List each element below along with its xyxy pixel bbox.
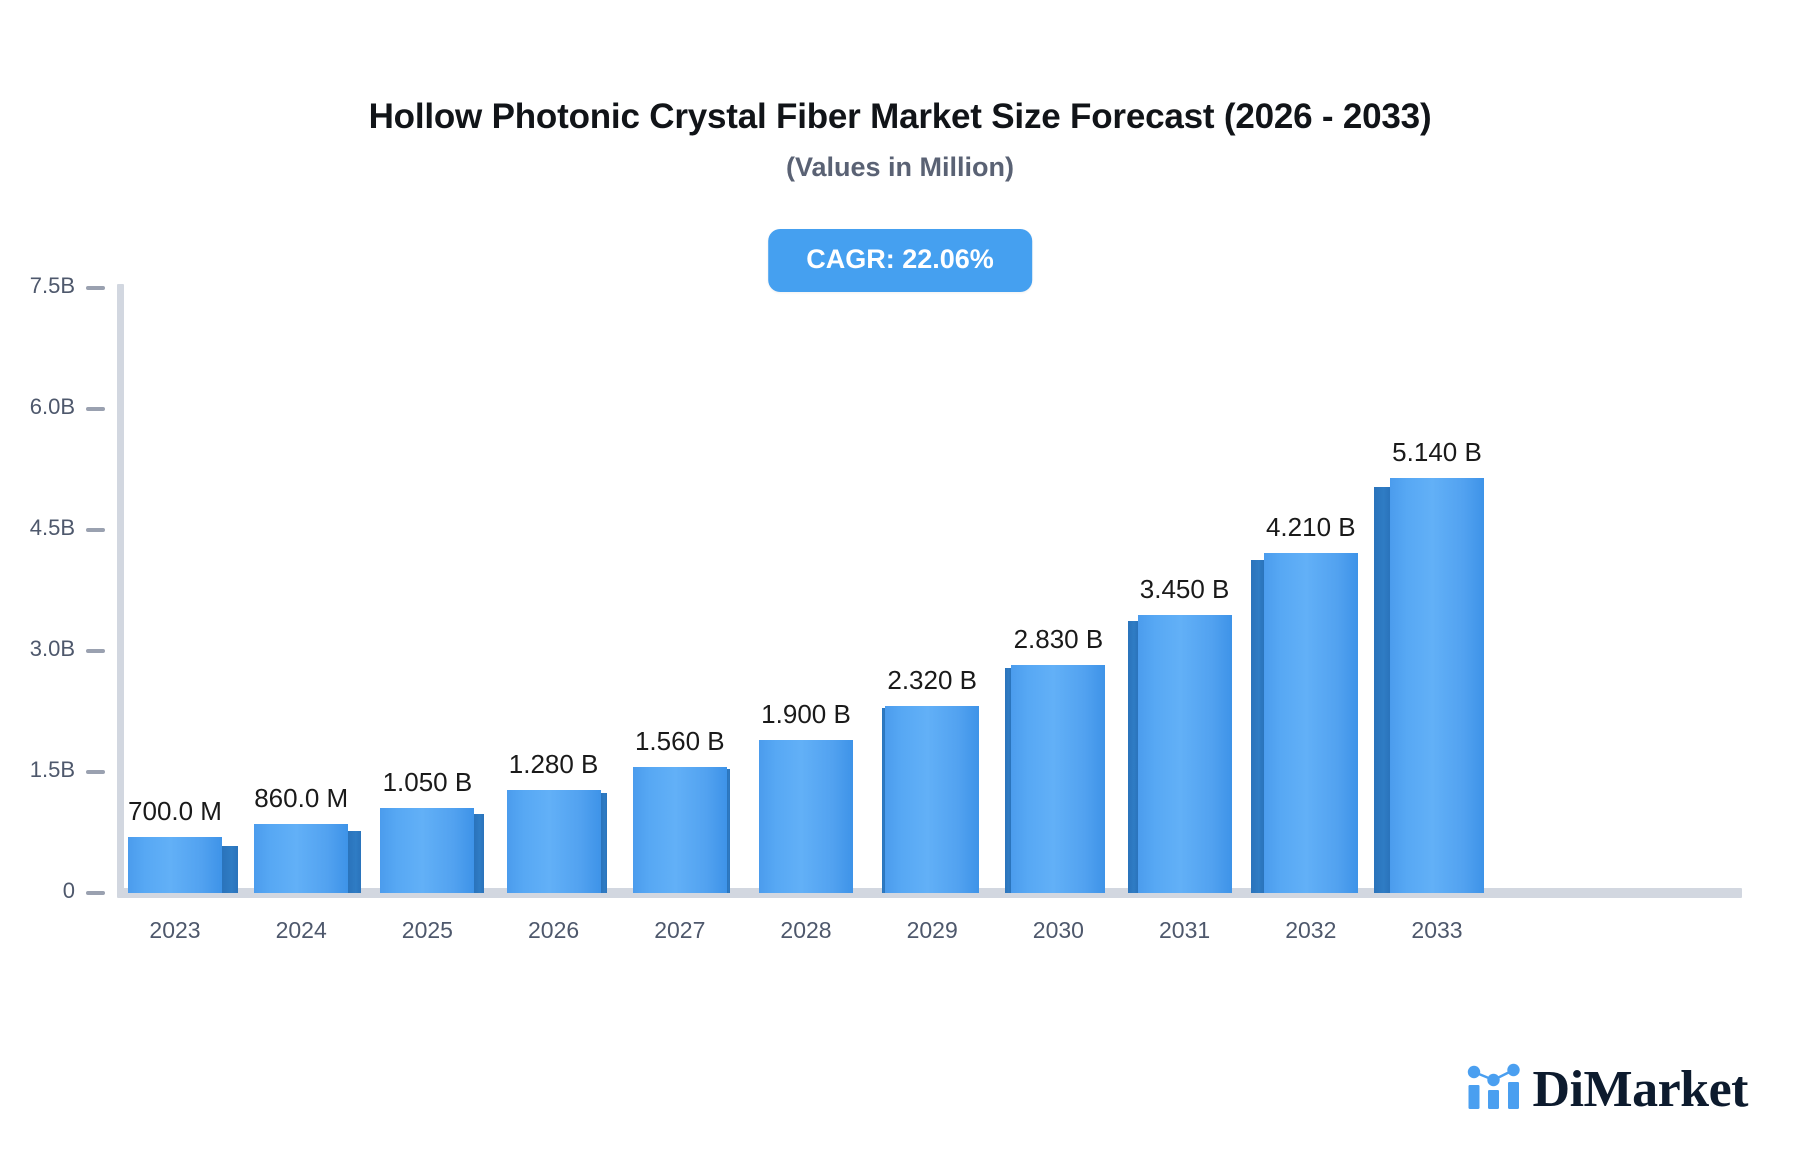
bar-2025[interactable]: 1.050 B2025: [380, 808, 474, 893]
y-axis-tick-label: 3.0B: [30, 636, 75, 662]
bar-side-face: [1128, 621, 1138, 893]
bar-front-face: [1138, 615, 1232, 893]
bar-side-face: [727, 769, 730, 893]
bar-value-label: 1.280 B: [509, 749, 599, 780]
bar-side-face: [474, 814, 484, 893]
y-axis-tick-mark: [86, 528, 105, 532]
x-axis-label: 2031: [1159, 917, 1210, 944]
y-axis-tick-label: 4.5B: [30, 515, 75, 541]
bar-chart-dots-icon: [1466, 1061, 1522, 1118]
bar-2027[interactable]: 1.560 B2027: [633, 767, 727, 893]
y-axis-tick-mark: [86, 891, 105, 895]
bar-side-face: [348, 831, 361, 893]
bar-front-face: [1264, 553, 1358, 893]
bar-value-label: 3.450 B: [1140, 574, 1230, 605]
y-axis-tick-label: 6.0B: [30, 394, 75, 420]
x-axis-label: 2027: [654, 917, 705, 944]
bar-front-face: [380, 808, 474, 893]
bar-side-face: [222, 846, 238, 893]
bar-front-face: [633, 767, 727, 893]
bar-2033[interactable]: 5.140 B2033: [1390, 478, 1484, 893]
bar-value-label: 4.210 B: [1266, 512, 1356, 543]
chart-card: Hollow Photonic Crystal Fiber Market Siz…: [0, 0, 1800, 1156]
x-axis-label: 2032: [1285, 917, 1336, 944]
bar-2028[interactable]: 1.900 B2028: [759, 740, 853, 893]
bar-front-face: [885, 706, 979, 893]
logo-wordmark: DiMarket: [1533, 1064, 1748, 1116]
x-axis-label: 2023: [149, 917, 200, 944]
bar-front-face: [759, 740, 853, 893]
bar-2029[interactable]: 2.320 B2029: [885, 706, 979, 893]
bar-2026[interactable]: 1.280 B2026: [507, 790, 601, 893]
dimarket-logo: DiMarket: [1466, 1061, 1748, 1118]
plot-area: 7.5B6.0B4.5B3.0B1.5B0 700.0 M2023860.0 M…: [0, 0, 1800, 1156]
bar-2031[interactable]: 3.450 B2031: [1138, 615, 1232, 893]
bar-front-face: [1011, 665, 1105, 893]
x-axis-label: 2028: [780, 917, 831, 944]
bar-side-face: [1374, 487, 1390, 893]
x-axis-label: 2033: [1411, 917, 1462, 944]
bar-value-label: 2.320 B: [887, 665, 977, 696]
bar-value-label: 1.050 B: [383, 767, 473, 798]
y-axis-tick-mark: [86, 770, 105, 774]
y-axis-tick-label: 0: [63, 878, 75, 904]
y-axis-tick-label: 1.5B: [30, 757, 75, 783]
y-axis-line: [117, 284, 124, 893]
x-axis-label: 2029: [907, 917, 958, 944]
y-axis-tick-label: 7.5B: [30, 273, 75, 299]
y-axis-tick-mark: [86, 286, 105, 290]
bar-2024[interactable]: 860.0 M2024: [254, 824, 348, 893]
bar-value-label: 700.0 M: [128, 796, 222, 827]
x-axis-label: 2025: [402, 917, 453, 944]
bar-side-face: [601, 793, 607, 893]
bar-value-label: 1.560 B: [635, 726, 725, 757]
bar-value-label: 2.830 B: [1014, 624, 1104, 655]
x-axis-label: 2024: [276, 917, 327, 944]
bar-2032[interactable]: 4.210 B2032: [1264, 553, 1358, 893]
bar-value-label: 860.0 M: [254, 783, 348, 814]
bar-front-face: [507, 790, 601, 893]
x-axis-label: 2030: [1033, 917, 1084, 944]
bar-2023[interactable]: 700.0 M2023: [128, 837, 222, 893]
bar-side-face: [1251, 560, 1264, 893]
y-axis-tick-mark: [86, 407, 105, 411]
bar-front-face: [128, 837, 222, 893]
y-axis-tick-mark: [86, 649, 105, 653]
x-axis-label: 2026: [528, 917, 579, 944]
bar-front-face: [1390, 478, 1484, 893]
bar-front-face: [254, 824, 348, 893]
bar-value-label: 1.900 B: [761, 699, 851, 730]
bar-2030[interactable]: 2.830 B2030: [1011, 665, 1105, 893]
bar-value-label: 5.140 B: [1392, 437, 1482, 468]
